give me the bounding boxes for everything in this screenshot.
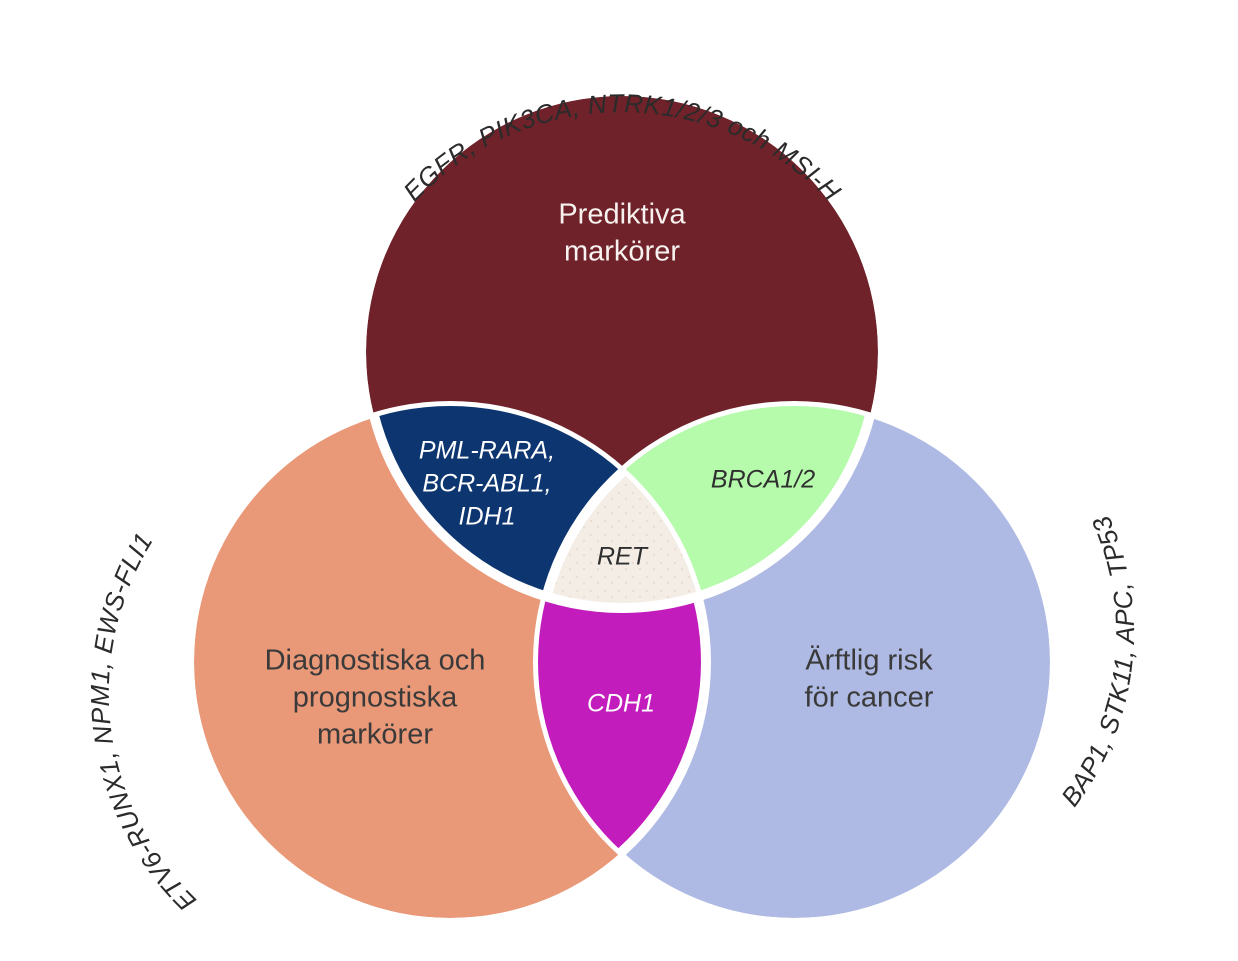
right-outer-label: BAP1, STK11, APC, TP53 [1055, 511, 1140, 811]
intersection-top-left-line2: BCR-ABL1, [422, 470, 551, 498]
top-set-label-line2: markörer [564, 236, 680, 268]
intersection-top-right-label: BRCA1/2 [711, 466, 815, 494]
right-set-label-line2: för cancer [805, 682, 934, 714]
intersection-center-label: RET [597, 543, 649, 571]
left-outer-label: ETV6-RUNX1, NPM1, EWS-FLI1 [85, 527, 202, 917]
right-set-label-line1: Ärftlig risk [805, 645, 933, 677]
top-set-label-line1: Prediktiva [558, 199, 686, 231]
left-set-label-line2: prognostiska [293, 682, 458, 714]
left-set-label-line3: markörer [317, 719, 433, 751]
intersection-left-right-label: CDH1 [587, 690, 655, 718]
right-outer-label-text: BAP1, STK11, APC, TP53 [1055, 511, 1140, 811]
venn-diagram-container: Prediktiva markörer Diagnostiska och pro… [0, 0, 1238, 961]
intersection-top-left-line1: PML-RARA, [419, 437, 555, 465]
venn-diagram: Prediktiva markörer Diagnostiska och pro… [0, 0, 1238, 961]
left-set-label-line1: Diagnostiska och [265, 645, 486, 677]
intersection-top-left-line3: IDH1 [459, 503, 516, 531]
left-outer-label-text: ETV6-RUNX1, NPM1, EWS-FLI1 [85, 527, 202, 917]
